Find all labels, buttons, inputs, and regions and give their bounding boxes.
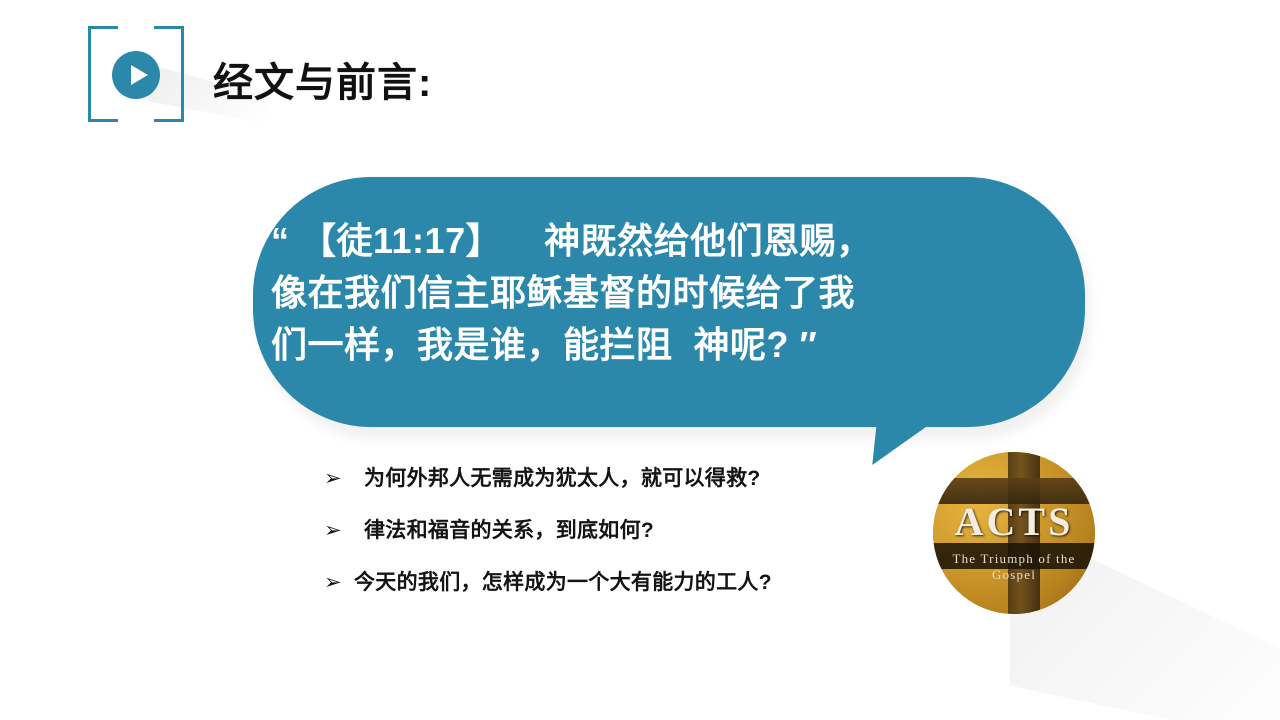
list-item-label: 律法和福音的关系，到底如何?: [364, 514, 654, 544]
arrow-bullet-icon: ➢: [324, 466, 364, 490]
quote-line-2: 像在我们信主耶稣基督的时候给了我: [271, 267, 1071, 319]
list-item-label: 今天的我们，怎样成为一个大有能力的工人?: [354, 566, 772, 596]
frame-edge-right: [181, 26, 184, 122]
arrow-bullet-icon: ➢: [324, 518, 364, 542]
list-item-label: 为何外邦人无需成为犹太人，就可以得救?: [364, 462, 761, 492]
acts-book-image: ACTS The Triumph of the Gospel: [933, 452, 1095, 614]
bubble-body: “ 【徒11:17】 神既然给他们恩赐， 像在我们信主耶稣基督的时候给了我 们一…: [253, 177, 1085, 427]
frame-edge-top-right: [154, 26, 184, 29]
frame-edge-bottom-right: [154, 119, 184, 122]
play-icon[interactable]: [112, 51, 160, 99]
arrow-bullet-icon: ➢: [324, 570, 354, 594]
list-item: ➢ 为何外邦人无需成为犹太人，就可以得救?: [324, 462, 964, 492]
page-title: 经文与前言:: [213, 50, 432, 108]
list-item: ➢ 今天的我们，怎样成为一个大有能力的工人?: [324, 566, 964, 596]
quote-line-1: “ 【徒11:17】 神既然给他们恩赐，: [271, 215, 1071, 267]
quote-line-3: 们一样，我是谁，能拦阻 神呢? ″: [271, 319, 1071, 371]
quote-text: “ 【徒11:17】 神既然给他们恩赐， 像在我们信主耶稣基督的时候给了我 们一…: [271, 215, 1071, 371]
question-list: ➢ 为何外邦人无需成为犹太人，就可以得救? ➢ 律法和福音的关系，到底如何? ➢…: [324, 462, 964, 618]
frame-edge-left: [88, 26, 91, 122]
scripture-quote-bubble: “ 【徒11:17】 神既然给他们恩赐， 像在我们信主耶稣基督的时候给了我 们一…: [253, 177, 1087, 467]
slide-canvas: 经文与前言: “ 【徒11:17】 神既然给他们恩赐， 像在我们信主耶稣基督的时…: [0, 0, 1280, 720]
acts-subtitle-text: The Triumph of the Gospel: [933, 551, 1095, 583]
play-button-frame-icon: [88, 26, 184, 122]
acts-title-text: ACTS: [933, 498, 1095, 545]
list-item: ➢ 律法和福音的关系，到底如何?: [324, 514, 964, 544]
slide-header: 经文与前言:: [88, 26, 688, 138]
frame-edge-bottom-left: [88, 119, 118, 122]
frame-edge-top-left: [88, 26, 118, 29]
